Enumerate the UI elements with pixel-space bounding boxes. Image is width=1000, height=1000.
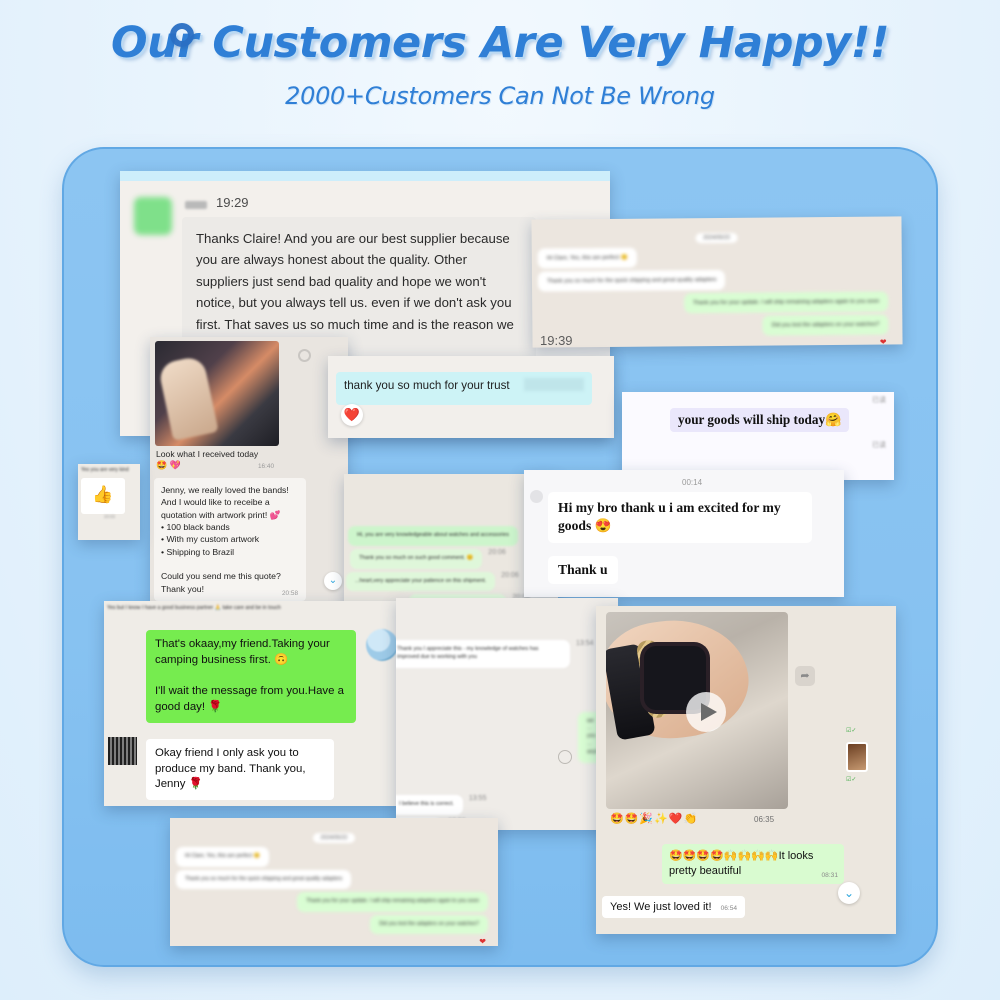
received-bands-photo[interactable] xyxy=(155,341,279,446)
chat-message: Thank you for your update. I will ship r… xyxy=(684,292,888,314)
screenshot-excited-for-goods: 00:14 Hi my bro thank u i am excited for… xyxy=(524,470,844,597)
sender-name-redacted xyxy=(185,201,207,209)
timestamp: 06:54 xyxy=(721,905,738,912)
image-thumbnail[interactable] xyxy=(846,742,868,772)
looks-beautiful-text: 🤩🤩🤩🤩🙌🙌🙌🙌It looks pretty beautiful xyxy=(669,850,813,877)
partner-note-text: Yes but I know I have a good business pa… xyxy=(107,605,281,611)
hug-emoji: 🤗 xyxy=(825,412,841,427)
avatar xyxy=(108,737,137,765)
screenshot-goods-ship-today: 已读 your goods will ship today🤗 已读 xyxy=(622,392,894,480)
chat-message: Thank you so much on such good comment. … xyxy=(350,549,482,569)
overlay-timestamp: 19:39 xyxy=(540,333,573,348)
photo-timestamp: 16:40 xyxy=(258,463,274,470)
avatar xyxy=(134,197,172,235)
screenshot-thumbsup-snippet: Yes you are very kind 👍 20:03 xyxy=(78,464,140,540)
sticker-icon xyxy=(366,629,398,661)
date-chip: 2024/05/22 xyxy=(313,833,356,843)
thumbsup-emoji: 👍 xyxy=(81,478,125,514)
heart-reaction-icon[interactable]: ❤️ xyxy=(341,404,363,426)
screenshot-wrist-video: 🤩🤩🎉✨❤️👏 06:35 ➦ ☑✓ ☑✓ 🤩🤩🤩🤩🙌🙌🙌🙌It looks p… xyxy=(596,606,896,934)
message-bubble: Hi my bro thank u i am excited for my go… xyxy=(548,492,812,543)
page-header: Our Customers Are Very Happy!! 2000+Cust… xyxy=(0,0,1000,140)
heart-reaction-icon: ❤ xyxy=(170,937,486,946)
conversation-timestamp: 00:14 xyxy=(682,478,702,487)
message-bubble: Thank u xyxy=(548,556,618,584)
ship-today-bubble: your goods will ship today🤗 xyxy=(670,408,849,432)
screenshot-camping-business: Yes but I know I have a good business pa… xyxy=(104,601,404,806)
timestamp: 20:06 xyxy=(488,549,506,569)
chat-message: ...heart,very appreciate your patience o… xyxy=(346,572,495,592)
timestamp: 08:31 xyxy=(821,872,838,881)
green-message-bubble: That's okaay,my friend.Taking your campi… xyxy=(146,630,356,723)
date-chip: 2024/05/22 xyxy=(695,233,738,243)
loading-circle-icon xyxy=(558,750,572,764)
chat-message: Hi Clare, Yes, this are perfect 😊 xyxy=(538,248,637,269)
chat-message: Thank you for your update. I will ship r… xyxy=(297,892,488,912)
chat-message: Hi Clare, Yes, this are perfect 😊 xyxy=(176,847,269,867)
quotation-message-text: Jenny, we really loved the bands! And I … xyxy=(161,485,289,594)
read-receipt-label: 已读 xyxy=(872,440,886,450)
wrist-watch-video[interactable] xyxy=(606,612,788,809)
video-timestamp: 06:35 xyxy=(754,815,774,824)
white-message-bubble: Yes! We just loved it! 06:54 xyxy=(602,896,745,918)
page-title: Our Customers Are Very Happy!! xyxy=(0,18,1000,68)
chat-message: I believe this is correct. xyxy=(396,795,463,815)
thank-you-text: thank you so much for your trust xyxy=(344,379,510,392)
timestamp: 13:54 xyxy=(576,640,594,668)
read-receipt-icon: ☑✓ xyxy=(846,776,856,783)
photo-caption: Look what I received today xyxy=(156,449,258,459)
loved-it-text: Yes! We just loved it! xyxy=(610,901,712,913)
timestamp: 13:55 xyxy=(469,795,487,815)
white-message-bubble: Okay friend I only ask you to produce my… xyxy=(146,739,334,800)
quotation-timestamp: 20:58 xyxy=(282,589,298,598)
photo-caption-emoji: 🤩 💖 xyxy=(156,460,181,471)
loading-circle-icon xyxy=(298,349,311,362)
timestamp: 20:06 xyxy=(501,572,519,592)
message-timestamp: 19:29 xyxy=(216,195,249,210)
chat-message: Thank you so much for the quick shipping… xyxy=(176,870,351,890)
chat-message: Did you test the adapters on your watche… xyxy=(370,915,488,935)
green-message-bubble: 🤩🤩🤩🤩🙌🙌🙌🙌It looks pretty beautiful 08:31 xyxy=(662,844,844,884)
quotation-message-bubble: Jenny, we really loved the bands! And I … xyxy=(154,478,306,601)
chat-message: Hi, you are very knowledgeable about wat… xyxy=(348,526,518,546)
redacted-name xyxy=(524,378,584,391)
scroll-to-bottom-icon[interactable]: ⌄ xyxy=(324,572,342,590)
page-subtitle: 2000+Customers Can Not Be Wrong xyxy=(0,82,1000,110)
scroll-to-bottom-icon[interactable]: ⌄ xyxy=(838,882,860,904)
chat-message: Did you test the adapters on your watche… xyxy=(763,315,889,336)
read-receipt-label: 已读 xyxy=(872,395,886,405)
screenshot-brazil-quotation: Look what I received today 🤩 💖 16:40 Jen… xyxy=(150,337,348,604)
chat-message: Thank you so much for the quick shipping… xyxy=(538,270,726,292)
screenshot-watch-knowledge: Thank you I appreciate this - my knowled… xyxy=(396,598,618,830)
timestamp: 20:03 xyxy=(104,514,115,519)
chat-message: Thank you I appreciate this - my knowled… xyxy=(396,640,570,668)
screenshot-adapters-chat: 2024/05/22 Hi Clare, Yes, this are perfe… xyxy=(531,216,902,347)
message-text: Thanks Claire! And you are our best supp… xyxy=(196,231,514,353)
ship-today-text: your goods will ship today xyxy=(678,412,825,427)
play-button-icon[interactable] xyxy=(686,692,726,732)
read-receipt-icon: ☑✓ xyxy=(846,727,856,734)
kind-text: Yes you are very kind xyxy=(81,467,129,473)
screenshot-thank-you-trust: thank you so much for your trust ❤️ xyxy=(328,356,614,438)
decorative-ring-icon xyxy=(170,23,194,47)
forward-icon[interactable]: ➦ xyxy=(795,666,815,686)
avatar xyxy=(530,490,543,503)
video-reaction-emojis: 🤩🤩🎉✨❤️👏 xyxy=(610,812,698,825)
screenshot-adapters-chat-duplicate: 2024/05/22 Hi Clare, Yes, this are perfe… xyxy=(170,818,498,946)
